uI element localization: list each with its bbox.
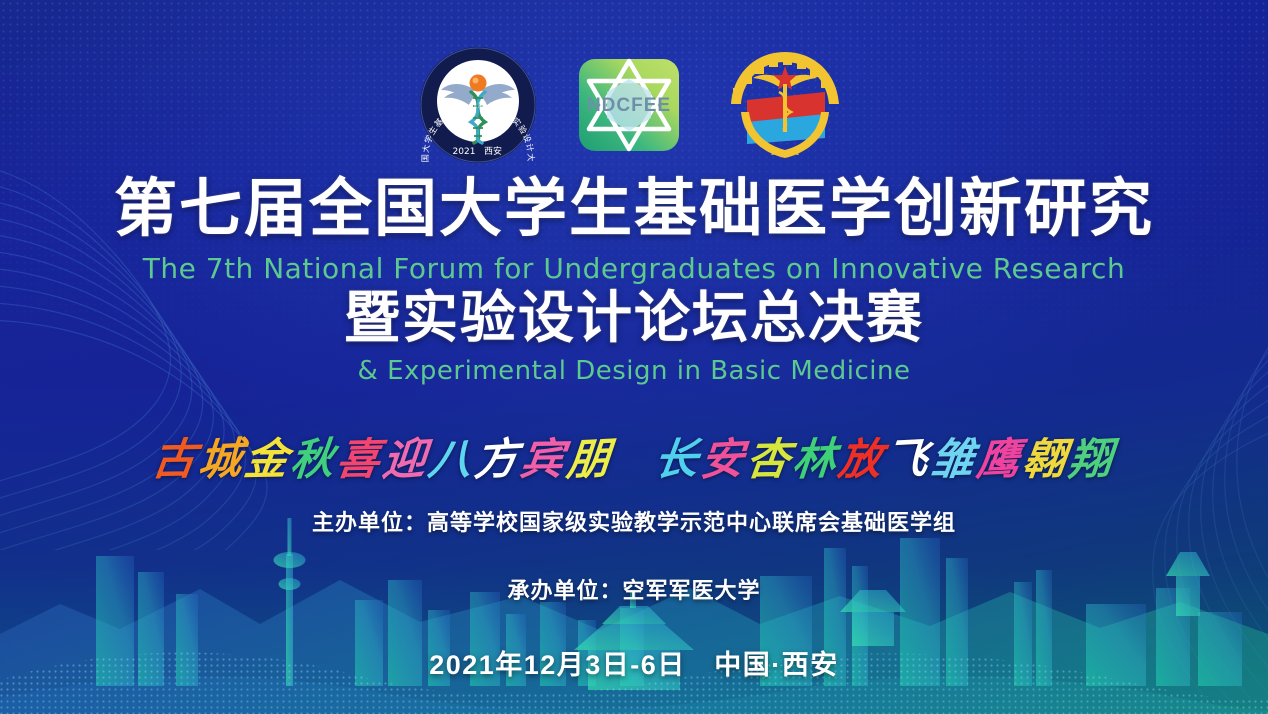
- calligraphy-character: 林: [790, 424, 840, 488]
- calligraphy-character: 宾: [517, 425, 569, 488]
- calligraphy-character: 喜: [333, 425, 385, 488]
- calligraphy-character: 秋: [288, 424, 338, 488]
- logo-row: 全国大学生基础医学创新论坛暨实验设计大赛 2021 西安 N: [0, 42, 1268, 168]
- main-title-english: The 7th National Forum for Undergraduate…: [0, 252, 1268, 285]
- calligraphy-slogan: 古城金秋喜迎八方宾朋 长安杏林放飞雏鹰翱翔: [0, 425, 1268, 487]
- calligraphy-character: 金: [241, 425, 293, 488]
- calligraphy-character: 朋: [564, 424, 614, 488]
- main-title-chinese: 第七届全国大学生基础医学创新研究: [0, 176, 1268, 242]
- calligraphy-character: 安: [698, 424, 748, 488]
- emblem-city: 西安: [484, 145, 502, 157]
- calligraphy-character: 鹰: [974, 424, 1024, 488]
- calligraphy-line-1: 古城金秋喜迎八方宾朋: [153, 425, 613, 487]
- subtitle-english: & Experimental Design in Basic Medicine: [0, 356, 1268, 386]
- calligraphy-character: 方: [472, 424, 522, 488]
- info-block: 主办单位：高等学校国家级实验教学示范中心联席会基础医学组 承办单位：空军军医大学…: [0, 505, 1268, 682]
- date-location-line: 2021年12月3日-6日 中国·西安: [0, 643, 1268, 682]
- calligraphy-character: 雏: [927, 425, 979, 488]
- ndcfee-logo: NDCFEE: [573, 49, 685, 161]
- calligraphy-character: 古: [149, 425, 201, 488]
- calligraphy-line-2: 长安杏林放飞雏鹰翱翔: [655, 425, 1115, 487]
- calligraphy-character: 城: [196, 424, 246, 488]
- organizer-line: 主办单位：高等学校国家级实验教学示范中心联席会基础医学组: [0, 505, 1268, 537]
- competition-emblem-logo: 全国大学生基础医学创新论坛暨实验设计大赛 2021 西安: [419, 46, 537, 164]
- calligraphy-character: 翱: [1019, 425, 1071, 488]
- calligraphy-character: 翔: [1066, 424, 1116, 488]
- emblem-year: 2021: [453, 147, 476, 157]
- subtitle-chinese: 暨实验设计论坛总决赛: [0, 289, 1268, 348]
- host-line: 承办单位：空军军医大学: [0, 573, 1268, 605]
- calligraphy-character: 放: [835, 425, 887, 488]
- conference-poster: 全国大学生基础医学创新论坛暨实验设计大赛 2021 西安 N: [0, 0, 1268, 714]
- calligraphy-character: 长: [651, 425, 703, 488]
- title-block: 第七届全国大学生基础医学创新研究 The 7th National Forum …: [0, 176, 1268, 386]
- calligraphy-character: 迎: [380, 424, 430, 488]
- calligraphy-character: 杏: [743, 425, 795, 488]
- calligraphy-character: 飞: [882, 424, 932, 488]
- air-force-medical-university-logo: [721, 42, 849, 168]
- ndcfee-label: NDCFEE: [587, 95, 671, 116]
- calligraphy-character: 八: [425, 425, 477, 488]
